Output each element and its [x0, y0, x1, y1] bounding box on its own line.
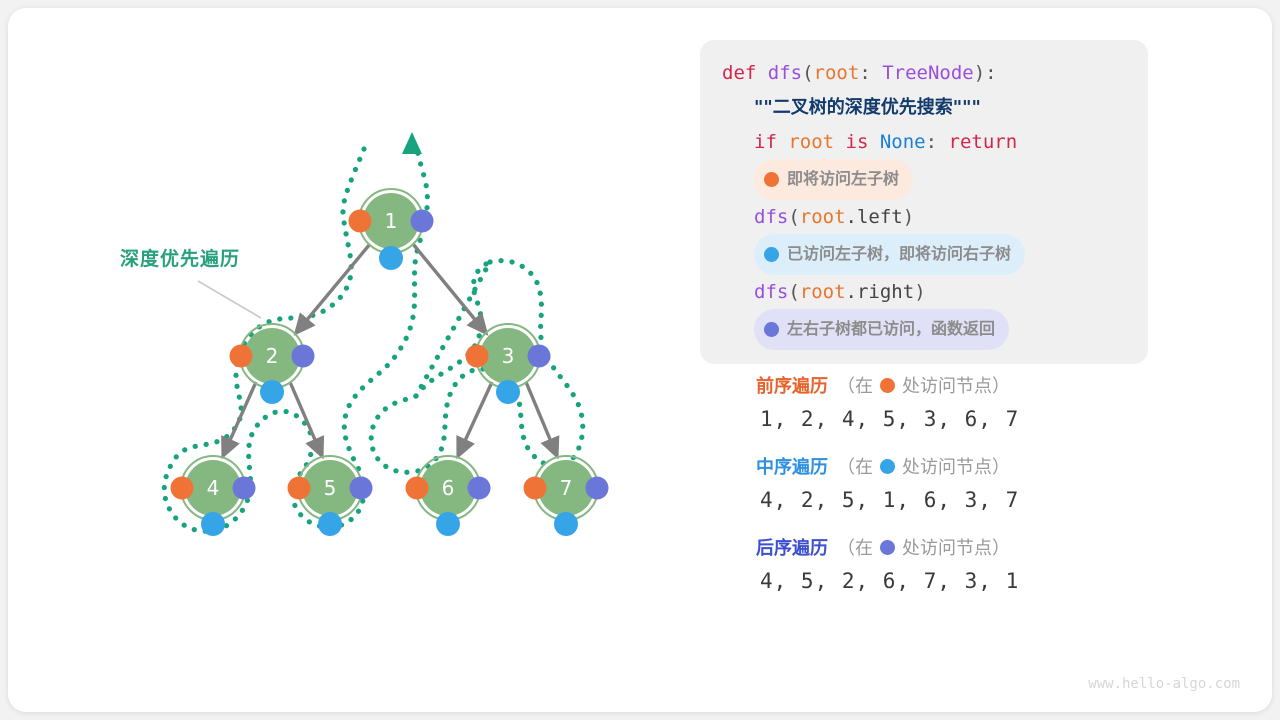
dfs-start-triangle-icon [402, 132, 422, 154]
dfs-label-leader-line [198, 281, 261, 318]
node-7-pre-dot [524, 477, 547, 500]
token-pn: ( [788, 281, 799, 303]
node-2-group[interactable] [230, 324, 315, 404]
token-attr: .right [846, 281, 915, 303]
purple-dot-icon [764, 322, 779, 337]
def-line: def dfs(root: TreeNode): [722, 56, 1130, 90]
traversal-1-sequence: 4, 2, 5, 1, 6, 3, 7 [760, 488, 1256, 512]
node-6-pre-dot [406, 477, 429, 500]
pill-in: 已访问左子树，即将访问右子树 [754, 234, 1025, 275]
dfs-right-line: dfs(root.right) [722, 275, 1130, 309]
node-7-post-dot [586, 477, 609, 500]
traversal-1-paren-close: 处访问节点） [902, 453, 1010, 479]
blue-dot-icon [880, 459, 895, 474]
orange-dot-icon [764, 172, 779, 187]
token-pn: : [859, 62, 882, 84]
node-3-in-dot [496, 380, 520, 404]
node-2-in-dot [260, 380, 284, 404]
token-pn: : [926, 131, 949, 153]
traversal-2-heading: 后序遍历（在处访问节点） [756, 534, 1256, 560]
traversal-orders-list: 前序遍历（在处访问节点）1, 2, 4, 5, 3, 6, 7中序遍历（在处访问… [756, 372, 1256, 615]
pill-post-row: 左右子树都已访问，函数返回 [722, 309, 1130, 350]
node-1-pre-dot [349, 210, 372, 233]
edge-1-2 [296, 244, 370, 333]
pill-pre-row: 即将访问左子树 [722, 159, 1130, 200]
node-6-group[interactable] [406, 456, 491, 536]
token-kw: return [949, 131, 1018, 153]
node-4-pre-dot [171, 477, 194, 500]
traversal-2-name: 后序遍历 [756, 534, 828, 560]
token-kw: if [754, 131, 788, 153]
traversal-1-heading: 中序遍历（在处访问节点） [756, 453, 1256, 479]
node-2-pre-dot [230, 345, 253, 368]
token-pn: ): [974, 62, 997, 84]
code-block: def dfs(root: TreeNode):""二叉树的深度优先搜索"""i… [700, 40, 1148, 364]
node-5-pre-dot [288, 477, 311, 500]
node-5-in-dot [318, 512, 342, 536]
node-1-group[interactable] [349, 189, 434, 270]
token-arg: root [800, 281, 846, 303]
token-arg: root [814, 62, 860, 84]
traversal-0-sequence: 1, 2, 4, 5, 3, 6, 7 [760, 407, 1256, 431]
docstring-line: ""二叉树的深度优先搜索""" [722, 90, 1130, 125]
traversal-2-sequence: 4, 5, 2, 6, 7, 3, 1 [760, 569, 1256, 593]
edge-3-6 [458, 382, 492, 456]
edge-3-7 [526, 382, 557, 456]
node-6-post-dot [468, 477, 491, 500]
token-arg: root [800, 206, 846, 228]
blue-dot-icon [764, 247, 779, 262]
traversal-1-paren-open: （在 [837, 453, 873, 479]
node-2-post-dot [292, 345, 315, 368]
pill-in-text: 已访问左子树，即将访问右子树 [787, 237, 1011, 271]
node-4-in-dot [201, 512, 225, 536]
token-pn: ) [903, 206, 914, 228]
traversal-2-paren-open: （在 [837, 534, 873, 560]
binary-tree-diagram: 1 2 3 4 5 6 7 深度优先遍历 [8, 8, 698, 712]
pill-post: 左右子树都已访问，函数返回 [754, 309, 1009, 350]
node-1-in-dot [379, 246, 403, 270]
traversal-1-name: 中序遍历 [756, 453, 828, 479]
site-watermark: www.hello-algo.com [1088, 676, 1240, 692]
node-3-pre-dot [466, 345, 489, 368]
token-fn: dfs [768, 62, 802, 84]
traversal-0-paren-close: 处访问节点） [902, 372, 1010, 398]
purple-dot-icon [880, 540, 895, 555]
traversal-0-name: 前序遍历 [756, 372, 828, 398]
node-6-in-dot [436, 512, 460, 536]
page-card: 1 2 3 4 5 6 7 深度优先遍历 def dfs(root: TreeN… [8, 8, 1272, 712]
node-4-post-dot [233, 477, 256, 500]
token-pn: ) [914, 281, 925, 303]
token-pn: ( [788, 206, 799, 228]
token-kw: is [846, 131, 880, 153]
docstring-line-text: ""二叉树的深度优先搜索""" [754, 97, 981, 118]
traversal-0-paren-open: （在 [837, 372, 873, 398]
node-7-group[interactable] [524, 456, 609, 536]
if-line: if root is None: return [722, 125, 1130, 159]
token-typ: TreeNode [882, 62, 974, 84]
token-pn: ( [802, 62, 813, 84]
pill-pre-text: 即将访问左子树 [787, 162, 899, 196]
dfs-traversal-label: 深度优先遍历 [120, 244, 240, 271]
traversal-2-paren-close: 处访问节点） [902, 534, 1010, 560]
token-bi: None [880, 131, 926, 153]
token-kw: def [722, 62, 768, 84]
dfs-left-line: dfs(root.left) [722, 200, 1130, 234]
pill-post-text: 左右子树都已访问，函数返回 [787, 312, 995, 346]
node-3-post-dot [528, 345, 551, 368]
orange-dot-icon [880, 378, 895, 393]
edge-2-5 [290, 382, 322, 456]
token-arg: root [788, 131, 845, 153]
node-5-post-dot [350, 477, 373, 500]
token-attr: .left [846, 206, 903, 228]
tree-svg [8, 8, 698, 712]
traversal-0-heading: 前序遍历（在处访问节点） [756, 372, 1256, 398]
right-panel: def dfs(root: TreeNode):""二叉树的深度优先搜索"""i… [698, 8, 1272, 712]
pill-in-row: 已访问左子树，即将访问右子树 [722, 234, 1130, 275]
node-1-post-dot [411, 210, 434, 233]
node-7-in-dot [554, 512, 578, 536]
pill-pre: 即将访问左子树 [754, 159, 913, 200]
token-fn: dfs [754, 281, 788, 303]
token-fn: dfs [754, 206, 788, 228]
